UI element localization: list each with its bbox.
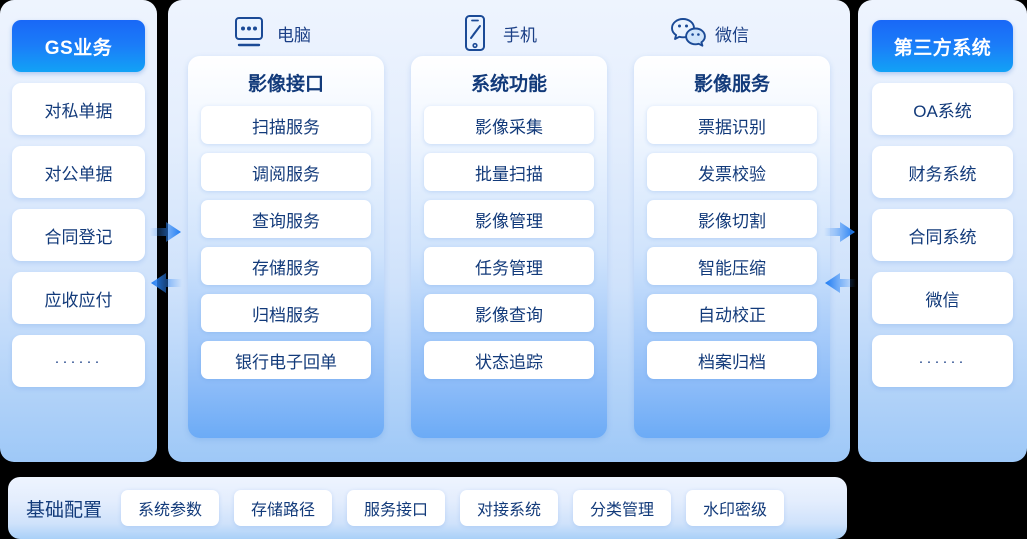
group2-item-5[interactable]: 影像查询 (424, 294, 594, 332)
group3-item-5[interactable]: 自动校正 (647, 294, 817, 332)
right-item-more[interactable]: ······ (872, 335, 1013, 387)
group1-item-5[interactable]: 归档服务 (201, 294, 371, 332)
group3-item-2[interactable]: 发票校验 (647, 153, 817, 191)
right-column-header: 第三方系统 (872, 20, 1013, 72)
group2-item-4[interactable]: 任务管理 (424, 247, 594, 285)
group-card-image-interface: 影像接口 扫描服务 调阅服务 查询服务 存储服务 归档服务 银行电子回单 (188, 56, 384, 438)
group-card-image-service: 影像服务 票据识别 发票校验 影像切割 智能压缩 自动校正 档案归档 (634, 56, 830, 438)
device-label-wechat: 微信 (715, 21, 749, 46)
base-config-title: 基础配置 (26, 495, 102, 522)
base-config-bar: 基础配置 系统参数 存储路径 服务接口 对接系统 分类管理 水印密级 (8, 477, 847, 539)
right-item-1[interactable]: OA系统 (872, 83, 1013, 135)
group3-item-6[interactable]: 档案归档 (647, 341, 817, 379)
config-chip-3[interactable]: 服务接口 (347, 490, 445, 526)
left-column-panel: GS业务 对私单据 对公单据 合同登记 应收应付 ······ (0, 0, 157, 462)
wechat-icon (668, 13, 706, 53)
left-item-1[interactable]: 对私单据 (12, 83, 145, 135)
left-item-more[interactable]: ······ (12, 335, 145, 387)
center-to-right-arrow (824, 221, 856, 243)
right-item-4[interactable]: 微信 (872, 272, 1013, 324)
device-channel-mobile: 手机 (456, 11, 537, 55)
group2-item-1[interactable]: 影像采集 (424, 106, 594, 144)
group-title-1: 影像接口 (248, 67, 324, 97)
center-platform-panel: 电脑 手机 (168, 0, 850, 462)
group-title-3: 影像服务 (694, 67, 770, 97)
device-channel-wechat: 微信 (668, 11, 749, 55)
group-card-system-function: 系统功能 影像采集 批量扫描 影像管理 任务管理 影像查询 状态追踪 (411, 56, 607, 438)
desktop-monitor-icon (230, 13, 268, 53)
left-item-3[interactable]: 合同登记 (12, 209, 145, 261)
mobile-phone-icon (456, 13, 494, 53)
group2-item-3[interactable]: 影像管理 (424, 200, 594, 238)
config-chip-6[interactable]: 水印密级 (686, 490, 784, 526)
group2-item-6[interactable]: 状态追踪 (424, 341, 594, 379)
group-title-2: 系统功能 (471, 67, 547, 97)
right-item-2[interactable]: 财务系统 (872, 146, 1013, 198)
device-label-mobile: 手机 (503, 21, 537, 46)
left-item-2[interactable]: 对公单据 (12, 146, 145, 198)
group1-item-6[interactable]: 银行电子回单 (201, 341, 371, 379)
group1-item-2[interactable]: 调阅服务 (201, 153, 371, 191)
device-label-pc: 电脑 (277, 21, 311, 46)
right-item-3[interactable]: 合同系统 (872, 209, 1013, 261)
group2-item-2[interactable]: 批量扫描 (424, 153, 594, 191)
config-chip-2[interactable]: 存储路径 (234, 490, 332, 526)
device-channel-pc: 电脑 (230, 11, 311, 55)
right-column-panel: 第三方系统 OA系统 财务系统 合同系统 微信 ······ (858, 0, 1027, 462)
right-to-center-arrow (824, 272, 856, 294)
group3-item-1[interactable]: 票据识别 (647, 106, 817, 144)
device-channel-row: 电脑 手机 (168, 11, 850, 55)
config-chip-4[interactable]: 对接系统 (460, 490, 558, 526)
group1-item-4[interactable]: 存储服务 (201, 247, 371, 285)
diagram-canvas: GS业务 对私单据 对公单据 合同登记 应收应付 ······ 电脑 (0, 0, 1027, 539)
group3-item-4[interactable]: 智能压缩 (647, 247, 817, 285)
group1-item-1[interactable]: 扫描服务 (201, 106, 371, 144)
config-chip-5[interactable]: 分类管理 (573, 490, 671, 526)
left-column-header: GS业务 (12, 20, 145, 72)
group1-item-3[interactable]: 查询服务 (201, 200, 371, 238)
left-to-center-arrow (150, 221, 182, 243)
config-chip-1[interactable]: 系统参数 (121, 490, 219, 526)
left-item-4[interactable]: 应收应付 (12, 272, 145, 324)
function-group-row: 影像接口 扫描服务 调阅服务 查询服务 存储服务 归档服务 银行电子回单 系统功… (168, 56, 850, 438)
center-to-left-arrow (150, 272, 182, 294)
group3-item-3[interactable]: 影像切割 (647, 200, 817, 238)
